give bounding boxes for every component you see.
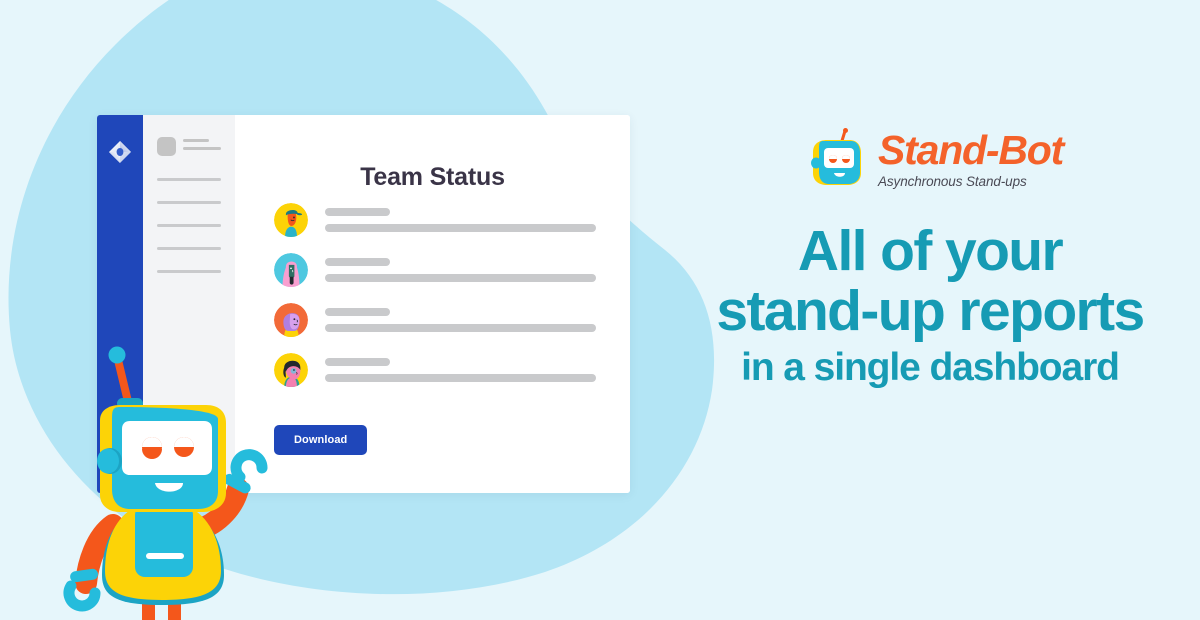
list-item-detail-line xyxy=(325,274,596,282)
stand-bot-robot-logo-icon xyxy=(805,128,867,190)
list-item-lines xyxy=(325,208,596,232)
sidebar-nav-item[interactable] xyxy=(157,224,221,227)
sidebar-nav-item[interactable] xyxy=(157,270,221,273)
list-item-detail-line xyxy=(325,374,596,382)
list-item-lines xyxy=(325,308,596,332)
list-item-detail-line xyxy=(325,224,596,232)
brand-name: Stand-Bot xyxy=(878,130,1063,171)
list-item-lines xyxy=(325,358,596,382)
list-item-detail-line xyxy=(325,324,596,332)
page-title: Team Status xyxy=(235,163,630,192)
card-main-panel: Team Status xyxy=(235,115,630,493)
list-item[interactable] xyxy=(274,353,596,387)
list-item[interactable] xyxy=(274,303,596,337)
list-item[interactable] xyxy=(274,253,596,287)
sidebar-profile-line-2 xyxy=(183,147,221,150)
list-item-name-line xyxy=(325,358,390,366)
list-item-name-line xyxy=(325,308,390,316)
poster-canvas: Team Status xyxy=(0,0,1200,620)
list-item[interactable] xyxy=(274,203,596,237)
list-item-name-line xyxy=(325,258,390,266)
brand-text-block: Stand-Bot Asynchronous Stand-ups xyxy=(878,130,1063,189)
sidebar-nav-item[interactable] xyxy=(157,247,221,250)
brand-tagline: Asynchronous Stand-ups xyxy=(878,175,1063,189)
headline-line-1: All of your xyxy=(660,222,1200,282)
robot-mascot-waving-icon xyxy=(58,315,288,620)
sidebar-nav-item[interactable] xyxy=(157,201,221,204)
sidebar-profile-line-1 xyxy=(183,139,209,142)
avatar-person-2-icon xyxy=(274,253,308,287)
brand-lockup: Stand-Bot Asynchronous Stand-ups xyxy=(805,128,1063,190)
team-status-list xyxy=(274,203,596,387)
headline-line-3: in a single dashboard xyxy=(660,344,1200,393)
list-item-name-line xyxy=(325,208,390,216)
marketing-panel: Stand-Bot Asynchronous Stand-ups All of … xyxy=(660,0,1200,620)
sidebar-nav-item[interactable] xyxy=(157,178,221,181)
headline-block: All of your stand-up reports in a single… xyxy=(660,222,1200,392)
avatar-placeholder-icon xyxy=(157,137,176,156)
sidebar-profile xyxy=(157,137,221,156)
avatar-person-1-icon xyxy=(274,203,308,237)
download-button[interactable]: Download xyxy=(274,425,367,455)
sidebar-nav-list xyxy=(157,178,221,273)
sidebar-profile-lines xyxy=(183,137,221,150)
list-item-lines xyxy=(325,258,596,282)
jira-diamond-icon xyxy=(108,140,132,164)
headline-line-2: stand-up reports xyxy=(660,282,1200,342)
